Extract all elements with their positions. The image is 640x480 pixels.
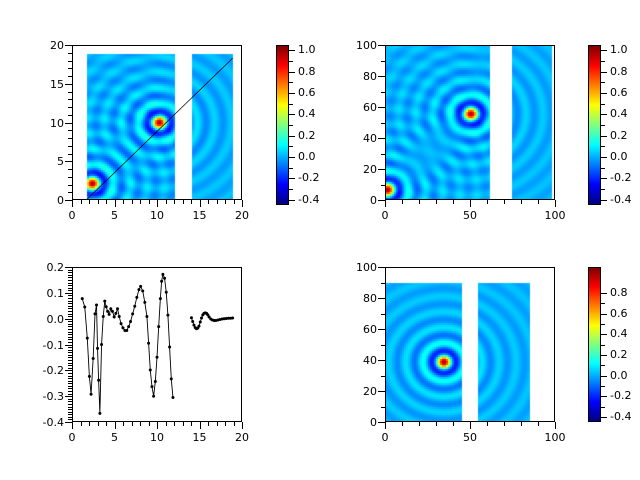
y-minor-tick — [68, 409, 72, 410]
data-point-marker — [121, 326, 124, 329]
data-point-marker — [106, 310, 109, 313]
y-major-tick — [378, 422, 385, 423]
colorbar-tick — [601, 93, 607, 94]
x-minor-tick — [106, 200, 107, 204]
y-minor-tick — [68, 76, 72, 77]
x-minor-tick — [149, 200, 150, 204]
data-point-marker — [98, 412, 101, 415]
y-major-tick — [65, 293, 72, 294]
colorbar-tick — [601, 157, 607, 158]
data-point-marker — [105, 305, 108, 308]
colorbar-tick-label: 0.0 — [610, 370, 640, 381]
colorbar-tick-label: 0.2 — [610, 349, 640, 360]
plot-top-left-colorbar — [276, 45, 289, 205]
colorbar-tick-label: 0.4 — [298, 108, 338, 119]
y-minor-tick — [381, 376, 385, 377]
y-tick-label: 40 — [333, 355, 377, 366]
y-minor-tick — [381, 314, 385, 315]
y-tick-label: 0 — [20, 195, 64, 206]
y-minor-tick — [68, 399, 72, 400]
x-minor-tick — [217, 200, 218, 204]
data-point-marker — [200, 316, 203, 319]
y-tick-label: 20 — [333, 164, 377, 175]
y-tick-label: -0.3 — [20, 391, 64, 402]
x-minor-tick — [538, 200, 539, 204]
y-minor-tick — [381, 185, 385, 186]
x-minor-tick — [487, 200, 488, 204]
colorbar-tick — [601, 396, 607, 397]
colorbar-minor-tick — [289, 61, 293, 62]
data-point-marker — [231, 316, 234, 319]
x-minor-tick — [132, 422, 133, 426]
y-major-tick — [378, 138, 385, 139]
colorbar-tick — [601, 417, 607, 418]
x-tick-label: 5 — [95, 210, 135, 221]
y-major-tick — [65, 200, 72, 201]
colorbar-tick-label: -0.4 — [610, 411, 640, 422]
x-major-tick — [385, 422, 386, 429]
colorbar-minor-tick — [289, 168, 293, 169]
x-minor-tick — [98, 422, 99, 426]
colorbar-tick — [289, 178, 295, 179]
x-minor-tick — [234, 200, 235, 204]
y-minor-tick — [68, 316, 72, 317]
y-minor-tick — [68, 306, 72, 307]
y-minor-tick — [68, 288, 72, 289]
x-tick-label: 0 — [52, 210, 92, 221]
colorbar-minor-tick — [289, 104, 293, 105]
y-tick-label: 0.1 — [20, 288, 64, 299]
data-point-marker — [157, 325, 160, 328]
y-minor-tick — [68, 311, 72, 312]
data-point-marker — [111, 310, 114, 313]
colorbar-tick-label: 0.6 — [610, 308, 640, 319]
x-minor-tick — [89, 200, 90, 204]
data-point-marker — [96, 347, 99, 350]
y-major-tick — [378, 45, 385, 46]
colorbar-gradient — [589, 268, 600, 421]
colorbar-tick — [289, 93, 295, 94]
y-tick-label: 80 — [333, 71, 377, 82]
x-minor-tick — [183, 422, 184, 426]
y-minor-tick — [68, 107, 72, 108]
y-minor-tick — [68, 53, 72, 54]
x-tick-label: 10 — [137, 210, 177, 221]
x-minor-tick — [538, 422, 539, 426]
y-minor-tick — [68, 332, 72, 333]
y-minor-tick — [68, 99, 72, 100]
y-major-tick — [378, 360, 385, 361]
data-point-marker — [198, 325, 201, 328]
colorbar-tick-label: 0.8 — [610, 66, 640, 77]
y-minor-tick — [68, 154, 72, 155]
y-tick-label: 0.0 — [20, 314, 64, 325]
colorbar-tick-label: 0.8 — [610, 287, 640, 298]
x-minor-tick — [106, 422, 107, 426]
y-major-tick — [65, 267, 72, 268]
x-minor-tick — [149, 422, 150, 426]
x-tick-label: 5 — [95, 432, 135, 443]
colorbar-tick — [289, 114, 295, 115]
plot-bottom-left-axes[interactable]: plot 2 — [72, 267, 242, 422]
y-major-tick — [65, 123, 72, 124]
data-point-marker — [192, 324, 195, 327]
data-point-marker — [191, 320, 194, 323]
y-minor-tick — [68, 404, 72, 405]
x-minor-tick — [183, 200, 184, 204]
colorbar-tick — [289, 50, 295, 51]
x-minor-tick — [521, 200, 522, 204]
x-minor-tick — [225, 200, 226, 204]
y-minor-tick — [68, 272, 72, 273]
colorbar-minor-tick — [601, 303, 605, 304]
data-point-marker — [88, 375, 91, 378]
y-minor-tick — [68, 326, 72, 327]
colorbar-tick-label: -0.4 — [298, 194, 338, 205]
colorbar-tick-label: 0.4 — [610, 108, 640, 119]
data-point-marker — [83, 306, 86, 309]
y-minor-tick — [68, 192, 72, 193]
data-point-marker — [116, 307, 119, 310]
colorbar-tick-label: 0.6 — [298, 87, 338, 98]
y-major-tick — [378, 391, 385, 392]
colorbar-tick-label: 1.0 — [298, 44, 338, 55]
y-minor-tick — [68, 350, 72, 351]
y-minor-tick — [68, 68, 72, 69]
y-minor-tick — [381, 283, 385, 284]
colorbar-tick — [289, 157, 295, 158]
y-minor-tick — [68, 347, 72, 348]
data-point-marker — [139, 285, 142, 288]
y-tick-label: 60 — [333, 102, 377, 113]
y-tick-label: 0.2 — [20, 262, 64, 273]
y-minor-tick — [68, 368, 72, 369]
data-point-marker — [108, 313, 111, 316]
y-minor-tick — [381, 92, 385, 93]
plot-bottom-right-image — [386, 268, 554, 421]
colorbar-minor-tick — [289, 146, 293, 147]
data-point-marker — [171, 396, 174, 399]
x-minor-tick — [166, 200, 167, 204]
y-minor-tick — [68, 407, 72, 408]
data-point-marker — [137, 288, 140, 291]
y-tick-label: -0.4 — [20, 417, 64, 428]
y-minor-tick — [381, 407, 385, 408]
colorbar-minor-tick — [601, 386, 605, 387]
plot-top-right-axes[interactable]: plot 1 — [385, 45, 555, 200]
x-minor-tick — [402, 200, 403, 204]
y-minor-tick — [68, 185, 72, 186]
plot-bottom-right-axes[interactable]: plot 3 — [385, 267, 555, 422]
x-minor-tick — [166, 422, 167, 426]
x-tick-label: 100 — [535, 210, 575, 221]
y-tick-label: 20 — [333, 386, 377, 397]
data-point-marker — [150, 385, 153, 388]
data-point-marker — [145, 315, 148, 318]
colorbar-tick — [601, 200, 607, 201]
colorbar-minor-tick — [601, 104, 605, 105]
y-minor-tick — [68, 417, 72, 418]
x-minor-tick — [402, 422, 403, 426]
x-minor-tick — [132, 200, 133, 204]
y-major-tick — [378, 169, 385, 170]
y-major-tick — [65, 370, 72, 371]
x-minor-tick — [191, 200, 192, 204]
colorbar-tick — [601, 334, 607, 335]
y-minor-tick — [68, 412, 72, 413]
data-point-marker — [109, 307, 112, 310]
colorbar-tick-label: 0.8 — [298, 66, 338, 77]
data-point-marker — [152, 395, 155, 398]
x-major-tick — [157, 422, 158, 429]
x-minor-tick — [123, 422, 124, 426]
x-minor-tick — [81, 200, 82, 204]
y-tick-label: 100 — [333, 40, 377, 51]
x-tick-label: 0 — [365, 432, 405, 443]
x-minor-tick — [81, 422, 82, 426]
y-minor-tick — [381, 154, 385, 155]
y-minor-tick — [68, 342, 72, 343]
x-minor-tick — [419, 422, 420, 426]
colorbar-tick — [601, 314, 607, 315]
y-minor-tick — [68, 285, 72, 286]
data-point-marker — [95, 303, 98, 306]
data-point-marker — [199, 321, 202, 324]
y-minor-tick — [68, 275, 72, 276]
data-point-marker — [81, 297, 84, 300]
colorbar-tick — [601, 114, 607, 115]
colorbar-minor-tick — [601, 125, 605, 126]
colorbar-tick-label: 0.6 — [610, 87, 640, 98]
x-major-tick — [72, 422, 73, 429]
x-minor-tick — [504, 422, 505, 426]
x-major-tick — [72, 200, 73, 207]
y-tick-label: 0 — [333, 195, 377, 206]
y-minor-tick — [68, 324, 72, 325]
y-minor-tick — [381, 123, 385, 124]
y-minor-tick — [68, 301, 72, 302]
y-minor-tick — [381, 345, 385, 346]
y-minor-tick — [68, 401, 72, 402]
x-minor-tick — [225, 422, 226, 426]
y-major-tick — [65, 319, 72, 320]
data-point-marker — [86, 337, 89, 340]
plot-top-left-axes[interactable] — [72, 45, 242, 200]
y-major-tick — [65, 84, 72, 85]
data-point-marker — [159, 297, 162, 300]
data-point-marker — [168, 346, 171, 349]
x-tick-label: 0 — [52, 432, 92, 443]
data-point-marker — [103, 300, 106, 303]
x-tick-label: 20 — [222, 210, 262, 221]
colorbar-tick-label: -0.4 — [610, 194, 640, 205]
data-point-marker — [125, 329, 128, 332]
y-minor-tick — [381, 61, 385, 62]
data-point-marker — [166, 314, 169, 317]
x-major-tick — [200, 200, 201, 207]
x-minor-tick — [140, 422, 141, 426]
data-point-marker — [190, 316, 193, 319]
y-tick-label: 80 — [333, 293, 377, 304]
colorbar-tick-label: 0.2 — [610, 130, 640, 141]
x-tick-label: 15 — [180, 210, 220, 221]
y-minor-tick — [68, 373, 72, 374]
colorbar-tick — [601, 136, 607, 137]
plot-bottom-right-colorbar — [588, 267, 601, 422]
x-major-tick — [242, 200, 243, 207]
y-minor-tick — [68, 298, 72, 299]
x-minor-tick — [436, 422, 437, 426]
data-point-marker — [141, 289, 144, 292]
y-minor-tick — [68, 355, 72, 356]
x-tick-label: 0 — [365, 210, 405, 221]
x-major-tick — [470, 422, 471, 429]
colorbar-minor-tick — [601, 61, 605, 62]
y-minor-tick — [68, 419, 72, 420]
data-point-marker — [160, 280, 163, 283]
data-point-marker — [118, 315, 121, 318]
x-minor-tick — [234, 422, 235, 426]
x-minor-tick — [504, 200, 505, 204]
y-minor-tick — [68, 314, 72, 315]
y-minor-tick — [68, 130, 72, 131]
colorbar-minor-tick — [289, 82, 293, 83]
colorbar-minor-tick — [601, 82, 605, 83]
x-minor-tick — [487, 422, 488, 426]
colorbar-minor-tick — [601, 189, 605, 190]
colorbar-minor-tick — [601, 168, 605, 169]
data-point-marker — [143, 301, 146, 304]
x-minor-tick — [89, 422, 90, 426]
y-minor-tick — [68, 376, 72, 377]
data-point-marker — [165, 291, 168, 294]
x-major-tick — [470, 200, 471, 207]
y-minor-tick — [68, 386, 72, 387]
data-point-marker — [120, 322, 123, 325]
y-tick-label: 5 — [20, 156, 64, 167]
colorbar-tick-label: -0.2 — [298, 172, 338, 183]
data-point-marker — [147, 342, 150, 345]
data-point-marker — [102, 315, 105, 318]
y-minor-tick — [68, 378, 72, 379]
x-tick-label: 100 — [535, 432, 575, 443]
data-point-marker — [90, 393, 93, 396]
y-minor-tick — [68, 365, 72, 366]
data-point-marker — [129, 320, 132, 323]
y-major-tick — [378, 329, 385, 330]
colorbar-tick — [601, 355, 607, 356]
y-minor-tick — [68, 352, 72, 353]
y-minor-tick — [68, 363, 72, 364]
y-minor-tick — [68, 334, 72, 335]
x-major-tick — [115, 200, 116, 207]
data-point-marker — [170, 377, 173, 380]
colorbar-minor-tick — [289, 189, 293, 190]
y-minor-tick — [68, 138, 72, 139]
plot-bottom-left-series — [73, 268, 241, 421]
colorbar-minor-tick — [601, 345, 605, 346]
colorbar-minor-tick — [601, 365, 605, 366]
y-minor-tick — [68, 280, 72, 281]
x-major-tick — [200, 422, 201, 429]
x-minor-tick — [453, 422, 454, 426]
data-point-marker — [154, 380, 157, 383]
colorbar-tick — [601, 72, 607, 73]
x-major-tick — [385, 200, 386, 207]
y-tick-label: -0.2 — [20, 365, 64, 376]
colorbar-minor-tick — [601, 324, 605, 325]
data-point-marker — [163, 277, 166, 280]
x-tick-label: 20 — [222, 432, 262, 443]
y-minor-tick — [68, 394, 72, 395]
plot-top-right-image — [386, 46, 554, 199]
data-point-marker — [100, 343, 103, 346]
data-point-marker — [113, 315, 116, 318]
data-point-marker — [94, 312, 97, 315]
x-minor-tick — [453, 200, 454, 204]
x-minor-tick — [174, 422, 175, 426]
x-minor-tick — [217, 422, 218, 426]
y-minor-tick — [68, 381, 72, 382]
colorbar-tick-label: -0.2 — [610, 390, 640, 401]
x-tick-label: 10 — [137, 432, 177, 443]
y-minor-tick — [68, 339, 72, 340]
x-minor-tick — [436, 200, 437, 204]
colorbar-tick-label: 0.4 — [610, 328, 640, 339]
y-tick-label: 10 — [20, 118, 64, 129]
y-major-tick — [378, 298, 385, 299]
colorbar-minor-tick — [601, 146, 605, 147]
y-tick-label: 100 — [333, 262, 377, 273]
y-major-tick — [65, 45, 72, 46]
x-major-tick — [242, 422, 243, 429]
data-point-marker — [127, 325, 130, 328]
x-minor-tick — [419, 200, 420, 204]
y-major-tick — [378, 267, 385, 268]
y-minor-tick — [68, 146, 72, 147]
colorbar-tick — [601, 376, 607, 377]
colorbar-gradient — [277, 46, 288, 204]
colorbar-tick — [601, 293, 607, 294]
y-minor-tick — [68, 383, 72, 384]
y-minor-tick — [68, 169, 72, 170]
data-point-marker — [92, 357, 95, 360]
x-minor-tick — [208, 422, 209, 426]
y-minor-tick — [68, 357, 72, 358]
data-point-marker — [135, 296, 138, 299]
colorbar-tick — [601, 50, 607, 51]
line-path — [82, 274, 173, 413]
y-minor-tick — [68, 290, 72, 291]
y-tick-label: 40 — [333, 133, 377, 144]
figure-canvas: 05101520051015201.00.80.60.40.20.0-0.2-0… — [0, 0, 640, 480]
y-minor-tick — [68, 177, 72, 178]
data-point-marker — [131, 312, 134, 315]
y-minor-tick — [68, 414, 72, 415]
y-major-tick — [378, 200, 385, 201]
y-minor-tick — [68, 303, 72, 304]
y-minor-tick — [68, 295, 72, 296]
y-minor-tick — [68, 360, 72, 361]
colorbar-tick — [289, 72, 295, 73]
y-minor-tick — [68, 388, 72, 389]
x-minor-tick — [208, 200, 209, 204]
y-tick-label: 20 — [20, 40, 64, 51]
y-minor-tick — [68, 115, 72, 116]
colorbar-minor-tick — [289, 125, 293, 126]
x-major-tick — [115, 422, 116, 429]
colorbar-tick-label: 0.2 — [298, 130, 338, 141]
